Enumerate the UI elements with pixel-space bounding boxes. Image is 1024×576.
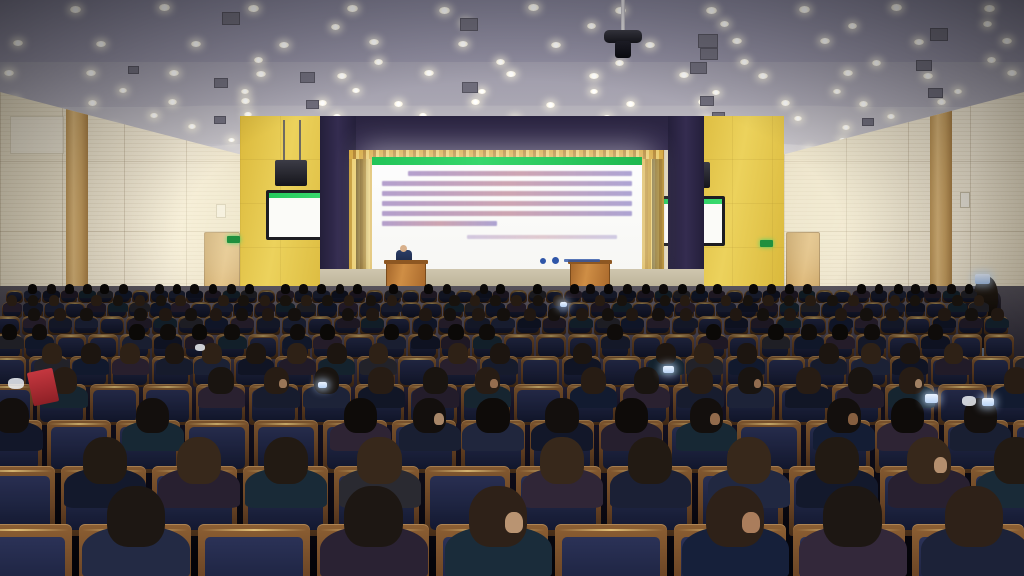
- audience-member-head: [156, 295, 166, 306]
- seat-trim: [0, 529, 69, 531]
- seat-trim: [101, 317, 124, 319]
- screen-text-line: [382, 211, 632, 216]
- audience-member-head: [952, 295, 962, 306]
- audience-member-head: [540, 437, 584, 484]
- ceiling-air-vent: [700, 96, 714, 106]
- audience-member-head: [260, 295, 270, 306]
- ceiling-downlight: [781, 100, 790, 106]
- audience-member-head: [113, 295, 123, 306]
- audience-member-head: [696, 284, 705, 293]
- proscenium-header: [320, 116, 704, 150]
- ceiling-downlight: [794, 116, 802, 121]
- seat-trim: [187, 423, 247, 425]
- seat-trim: [907, 317, 930, 319]
- ceiling-downlight: [983, 21, 992, 27]
- audience-member-head: [944, 343, 964, 364]
- audience-member-head: [299, 284, 308, 293]
- emblem-mark: [552, 257, 559, 264]
- audience-member-head: [763, 295, 773, 306]
- audience-member-head: [678, 284, 687, 293]
- audience-member-head: [91, 295, 101, 306]
- audience-member-head: [155, 284, 164, 293]
- audience-member-head: [860, 308, 872, 321]
- audience-member-head: [202, 343, 222, 364]
- audience-member-head: [423, 367, 448, 394]
- audience-member-head: [994, 437, 1024, 484]
- audience-member-head: [947, 284, 956, 293]
- lit-phone-icon: [982, 398, 994, 406]
- audience-member-head: [165, 343, 185, 364]
- audience-member-head: [192, 324, 208, 341]
- audience-member-head: [511, 295, 521, 306]
- seat-trim: [192, 303, 211, 305]
- audience-member-head: [389, 284, 398, 293]
- audience-member-head: [245, 284, 254, 293]
- audience-member-head: [314, 367, 339, 394]
- audience-member-head: [344, 486, 402, 548]
- audience-member-head: [974, 295, 984, 306]
- audience-member-head: [175, 295, 185, 306]
- ceiling-downlight: [740, 59, 749, 65]
- audience-member-head: [136, 398, 169, 433]
- seat-trim: [515, 386, 561, 388]
- audience-member-head: [680, 295, 690, 306]
- audience-member-head: [353, 284, 362, 293]
- audience-member-head: [688, 367, 713, 394]
- seat-trim: [0, 317, 19, 319]
- audience-member-head: [628, 437, 672, 484]
- seat-trim: [739, 423, 799, 425]
- ceiling-tier-2: [0, 62, 1024, 107]
- seat-trim: [522, 358, 558, 360]
- seat-trim: [201, 529, 306, 531]
- audience-member-head: [246, 343, 266, 364]
- audience-member-head: [227, 284, 236, 293]
- seat-trim: [547, 291, 563, 293]
- ceiling-air-vent: [460, 18, 478, 31]
- audience-member-face: [710, 413, 720, 425]
- seat-trim: [953, 335, 981, 337]
- seat-trim: [699, 317, 722, 319]
- screen-text-line: [408, 171, 632, 176]
- audience-member-head: [238, 295, 248, 306]
- audience-member-head: [727, 437, 771, 484]
- audience-member-head: [767, 284, 776, 293]
- wall-light-fixture: [216, 204, 226, 218]
- audience-member-head: [320, 324, 336, 341]
- ceiling-downlight: [720, 21, 729, 27]
- ceiling-downlight: [645, 42, 655, 48]
- audience-member-head: [891, 398, 924, 433]
- audience-member-head: [280, 295, 290, 306]
- audience-seat[interactable]: [521, 356, 559, 387]
- audience-member-head: [107, 486, 165, 548]
- audience-member-head: [680, 308, 692, 321]
- audience-member-head: [524, 308, 536, 321]
- lit-phone-icon: [318, 382, 327, 388]
- ceiling-air-vent: [690, 62, 707, 74]
- face-mask-icon: [195, 344, 205, 351]
- left-exit-sign: [227, 236, 240, 243]
- audience-member-head: [54, 308, 66, 321]
- left-monitor-screen: [269, 193, 327, 237]
- audience-member-head: [861, 343, 881, 364]
- audience-member-head: [819, 343, 839, 364]
- ceiling-air-vent: [300, 72, 315, 83]
- audience-member-head: [236, 308, 248, 321]
- audience-member-head: [706, 324, 722, 341]
- wall-panel-accent: [10, 116, 64, 154]
- audience-member-head: [290, 324, 306, 341]
- ceiling-downlight: [256, 71, 266, 77]
- audience-member-head: [757, 308, 769, 321]
- seat-trim: [57, 335, 85, 337]
- audience-member-head: [768, 324, 784, 341]
- seat-number-tag: [451, 494, 463, 500]
- ceiling-downlight: [984, 5, 995, 12]
- seat-trim: [604, 358, 640, 360]
- screen-text-line: [382, 181, 632, 186]
- seat-trim: [835, 291, 851, 293]
- audience-member-head: [418, 324, 434, 341]
- seat-trim: [309, 317, 332, 319]
- ceiling-downlight: [506, 71, 516, 77]
- audience-member-face: [490, 379, 498, 388]
- audience-member-head: [159, 308, 171, 321]
- ceiling-downlight: [872, 60, 881, 66]
- screen-text-line: [382, 221, 497, 226]
- audience-member-head: [208, 367, 233, 394]
- seat-trim: [558, 529, 663, 531]
- screen-text-line: [382, 191, 632, 196]
- audience-member-head: [832, 324, 848, 341]
- audience-member-head: [991, 308, 1003, 321]
- audience-member-head: [576, 308, 588, 321]
- audience-seat[interactable]: [198, 524, 310, 576]
- audience-member-head: [317, 284, 326, 293]
- audience-member-head: [366, 295, 376, 306]
- seat-trim: [91, 386, 137, 388]
- seat-trim: [259, 291, 275, 293]
- audience-seat[interactable]: [555, 524, 667, 576]
- lit-phone-icon: [925, 394, 938, 403]
- audience-crowd: [0, 286, 1024, 576]
- audience-member-head: [218, 295, 228, 306]
- seat-trim: [889, 335, 917, 337]
- audience-member-head: [890, 295, 900, 306]
- seat-trim: [0, 358, 25, 360]
- audience-member-head: [479, 324, 495, 341]
- audience-member-head: [875, 284, 884, 293]
- audience-member-head: [928, 284, 937, 293]
- seat-trim: [570, 303, 589, 305]
- audience-member-head: [83, 284, 92, 293]
- ceiling-downlight: [987, 57, 996, 63]
- audience-seat[interactable]: [90, 384, 139, 425]
- ceiling-downlight: [331, 24, 340, 30]
- ceiling-air-vent: [698, 34, 718, 48]
- audience-member-head: [177, 437, 221, 484]
- audience-member-head: [660, 295, 670, 306]
- audience-member-head: [835, 308, 847, 321]
- audience-member-head: [336, 284, 345, 293]
- seat-trim: [1015, 423, 1024, 425]
- audience-member-head: [894, 284, 903, 293]
- audience-member-head: [322, 295, 332, 306]
- audience-member-head: [369, 343, 389, 364]
- seat-trim: [399, 358, 435, 360]
- seat-trim: [144, 386, 190, 388]
- audience-member-head: [224, 324, 240, 341]
- ceiling-air-vent: [862, 118, 874, 126]
- face-mask-icon: [962, 396, 976, 406]
- ceiling-downlight: [96, 41, 106, 47]
- seat-trim: [665, 335, 693, 337]
- seat-number-tag: [0, 494, 8, 500]
- seat-trim: [537, 335, 565, 337]
- seat-trim: [249, 335, 277, 337]
- audience-member-face: [848, 413, 858, 425]
- audience-member-head: [42, 343, 62, 364]
- projector-mount-rod: [621, 0, 625, 32]
- screen-signature-line: [467, 235, 617, 239]
- audience-member-head: [490, 295, 500, 306]
- seat-trim: [345, 335, 373, 337]
- audience-member-head: [28, 308, 40, 321]
- audience-member-head: [857, 284, 866, 293]
- ceiling-tier-1: [0, 0, 1024, 62]
- lit-phone-icon: [663, 366, 674, 373]
- auditorium-scene: [0, 0, 1024, 576]
- audience-member-head: [570, 284, 579, 293]
- seat-trim: [0, 470, 52, 472]
- seat-trim: [511, 291, 527, 293]
- audience-member-head: [287, 343, 307, 364]
- audience-member-head: [730, 308, 742, 321]
- seat-trim: [633, 335, 661, 337]
- seat-trim: [633, 303, 652, 305]
- monitor-green-band: [269, 193, 327, 198]
- seat-trim: [7, 291, 23, 293]
- ceiling-air-vent: [214, 116, 226, 124]
- audience-member-head: [476, 398, 509, 433]
- audience-member-head: [281, 284, 290, 293]
- audience-member-head: [129, 324, 145, 341]
- institution-emblem: [540, 256, 602, 265]
- seat-trim: [133, 291, 149, 293]
- audience-member-head: [634, 367, 659, 394]
- ceiling-downlight: [712, 90, 720, 95]
- audience-member-head: [357, 437, 401, 484]
- ceiling-downlight: [248, 5, 259, 12]
- audience-member-face: [279, 379, 287, 388]
- ceiling-downlight: [374, 59, 383, 65]
- left-hanging-loudspeaker: [275, 160, 307, 186]
- audience-member-head: [288, 308, 300, 321]
- seat-trim: [864, 303, 883, 305]
- audience-member-head: [815, 437, 859, 484]
- seat-trim: [985, 335, 1013, 337]
- seat-trim: [428, 470, 508, 472]
- wall-light-fixture: [960, 192, 970, 208]
- audience-member-head: [573, 343, 593, 364]
- audience-member-head: [210, 308, 222, 321]
- audience-member-head: [595, 295, 605, 306]
- ceiling-air-vent: [214, 78, 228, 88]
- ceiling-air-vent: [700, 48, 718, 60]
- audience-member-head: [119, 284, 128, 293]
- phone-icon: [975, 274, 990, 284]
- ceiling-downlight: [859, 101, 868, 107]
- audience-member-head: [32, 324, 48, 341]
- audience-member-head: [448, 343, 468, 364]
- audience-member-head: [264, 437, 308, 484]
- seat-trim: [387, 317, 410, 319]
- audience-member-head: [848, 295, 858, 306]
- audience-member-head: [497, 308, 509, 321]
- emblem-wordmark: [564, 259, 600, 262]
- audience-member-head: [100, 284, 109, 293]
- audience-member-face: [434, 413, 444, 425]
- audience-member-head: [301, 295, 311, 306]
- seat-trim: [505, 335, 533, 337]
- seat-trim: [66, 303, 85, 305]
- seat-trim: [403, 291, 419, 293]
- audience-member-head: [796, 367, 821, 394]
- ceiling-downlight: [471, 99, 480, 105]
- seat-trim: [457, 291, 473, 293]
- ceiling-downlight: [347, 5, 358, 12]
- audience-member-head: [384, 324, 400, 341]
- audience-seat[interactable]: [906, 316, 930, 335]
- audience-member-face: [915, 379, 923, 388]
- audience-member-head: [368, 367, 393, 394]
- emblem-mark: [540, 258, 546, 264]
- audience-member-head: [656, 343, 676, 364]
- face-mask-icon: [8, 378, 24, 389]
- audience-member-head: [864, 324, 880, 341]
- audience-member-head: [344, 295, 354, 306]
- ceiling-downlight: [914, 39, 924, 45]
- ceiling-downlight: [352, 88, 360, 93]
- audience-member-head: [965, 284, 974, 293]
- ceiling-air-vent: [930, 28, 948, 41]
- audience-member-head: [2, 324, 18, 341]
- audience-member-head: [448, 324, 464, 341]
- audience-member-head: [581, 367, 606, 394]
- ceiling-downlight: [842, 125, 850, 130]
- audience-member-head: [190, 284, 199, 293]
- ceiling-air-vent: [128, 66, 139, 74]
- ceiling-downlight: [551, 42, 561, 48]
- ceiling-downlight: [279, 42, 289, 48]
- audience-member-head: [135, 295, 145, 306]
- audience-member-head: [607, 324, 623, 341]
- seat-trim: [768, 358, 804, 360]
- main-projection-screen: [372, 157, 642, 269]
- seat-trim: [696, 303, 715, 305]
- audience-member-head: [47, 284, 56, 293]
- audience-member-head: [366, 308, 378, 321]
- audience-member-head: [604, 284, 613, 293]
- ceiling-air-vent: [462, 82, 478, 93]
- audience-member-head: [945, 486, 1003, 548]
- audience-member-head: [721, 295, 731, 306]
- audience-member-head: [586, 284, 595, 293]
- audience-member-head: [533, 295, 543, 306]
- audience-member-head: [694, 343, 714, 364]
- audience-member-head: [602, 308, 614, 321]
- audience-member-head: [209, 284, 218, 293]
- audience-member-head: [938, 308, 950, 321]
- audience-member-head: [490, 343, 510, 364]
- audience-member-head: [449, 295, 459, 306]
- audience-member-head: [80, 308, 92, 321]
- seat-trim: [817, 291, 833, 293]
- audience-member-head: [173, 284, 182, 293]
- audience-member-head: [344, 398, 377, 433]
- audience-member-head: [7, 295, 17, 306]
- audience-member-head: [0, 398, 29, 433]
- audience-member-head: [805, 295, 815, 306]
- audience-member-head: [848, 367, 873, 394]
- audience-member-head: [886, 308, 898, 321]
- audience-member-head: [626, 308, 638, 321]
- audience-member-head: [623, 284, 632, 293]
- seat-trim: [89, 335, 117, 337]
- audience-member-head: [910, 295, 920, 306]
- audience-member-head: [444, 308, 456, 321]
- ceiling-downlight: [458, 41, 468, 47]
- audience-member-head: [615, 398, 648, 433]
- ceiling-downlight: [937, 99, 946, 105]
- audience-seat[interactable]: [100, 316, 124, 335]
- audience-member-head: [743, 295, 753, 306]
- seat-number-tag: [0, 561, 10, 569]
- audience-member-head: [900, 343, 920, 364]
- ceiling-downlight: [590, 89, 598, 94]
- ceiling-air-vent: [916, 60, 932, 71]
- audience-member-head: [327, 343, 347, 364]
- ceiling-downlight: [615, 60, 624, 66]
- audience-member-head: [928, 324, 944, 341]
- seat-number-tag: [232, 561, 248, 569]
- audience-member-head: [419, 308, 431, 321]
- audience-member-head: [262, 308, 274, 321]
- audience-member-head: [911, 284, 920, 293]
- projector-lens-icon: [615, 41, 631, 58]
- ceiling-air-vent: [222, 12, 240, 25]
- ceiling-downlight: [369, 39, 379, 45]
- audience-member-head: [134, 308, 146, 321]
- seat-trim: [256, 423, 316, 425]
- audience-member-head: [83, 437, 127, 484]
- audience-member-head: [28, 295, 38, 306]
- audience-member-head: [472, 308, 484, 321]
- audience-member-head: [185, 308, 197, 321]
- audience-member-head: [785, 284, 794, 293]
- ceiling-air-vent: [928, 88, 943, 98]
- seat-trim: [423, 303, 442, 305]
- audience-member-head: [737, 343, 757, 364]
- screen-text-block: [382, 171, 632, 263]
- podium-top-edge: [384, 260, 428, 264]
- audience-member-head: [28, 284, 37, 293]
- audience-member-head: [533, 284, 542, 293]
- audience-seat[interactable]: [0, 524, 72, 576]
- lit-phone-icon: [560, 302, 567, 307]
- audience-member-head: [120, 343, 140, 364]
